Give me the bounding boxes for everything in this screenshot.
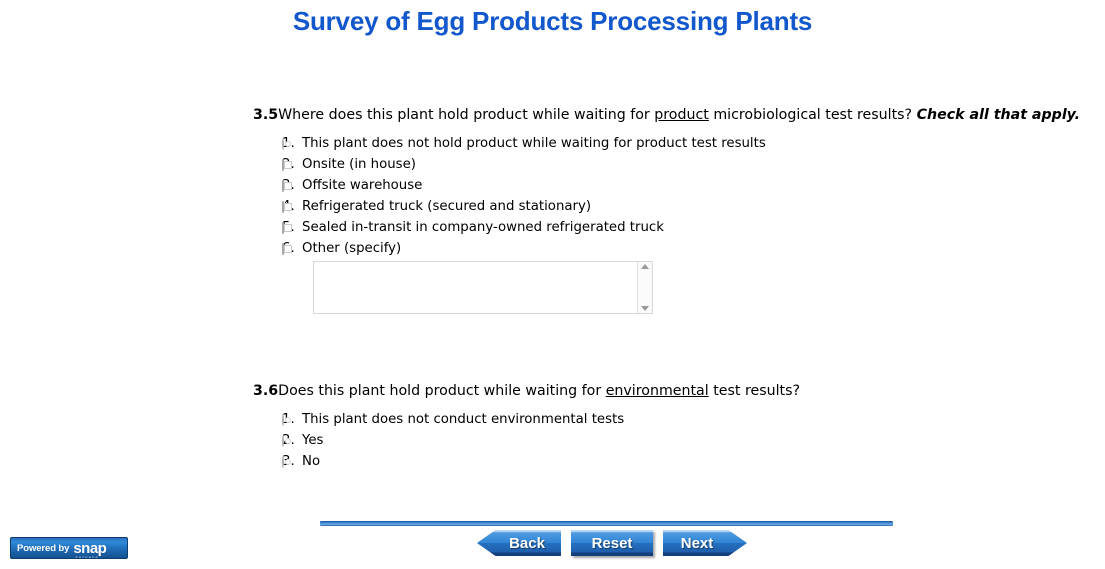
radio-button-icon[interactable] bbox=[282, 456, 284, 468]
option-label[interactable]: Onsite (in house) bbox=[302, 154, 416, 175]
option-control[interactable] bbox=[253, 238, 282, 259]
option-label[interactable]: Other (specify) bbox=[302, 238, 401, 259]
radio-button-icon[interactable] bbox=[282, 138, 284, 150]
scroll-down-arrow-icon[interactable] bbox=[641, 306, 649, 311]
question-number: 3.6 bbox=[253, 383, 278, 399]
options-list-3-5: 1. This plant does not hold product whil… bbox=[253, 133, 1080, 259]
option-row[interactable]: 2. Yes bbox=[253, 430, 800, 451]
question-text-before: Does this plant hold product while waiti… bbox=[278, 383, 606, 399]
option-label[interactable]: This plant does not hold product while w… bbox=[302, 133, 766, 154]
option-row[interactable]: 3. No bbox=[253, 451, 800, 472]
option-row[interactable]: 2. Onsite (in house) bbox=[253, 154, 1080, 175]
checkbox-icon[interactable] bbox=[282, 243, 284, 255]
question-text-3-5: 3.5Where does this plant hold product wh… bbox=[253, 106, 1080, 124]
option-label[interactable]: Yes bbox=[302, 430, 323, 451]
checkbox-icon[interactable] bbox=[282, 222, 284, 234]
powered-by-label: Powered by bbox=[17, 543, 69, 554]
radio-button-icon[interactable] bbox=[282, 435, 284, 447]
option-control[interactable] bbox=[253, 133, 282, 154]
option-label[interactable]: Sealed in-transit in company-owned refri… bbox=[302, 217, 664, 238]
other-specify-textarea-wrapper[interactable] bbox=[313, 261, 653, 314]
powered-by-snap-badge[interactable]: Powered by snap surveys bbox=[10, 537, 128, 559]
checkbox-icon[interactable] bbox=[282, 159, 284, 171]
question-block-3-6: 3.6Does this plant hold product while wa… bbox=[253, 382, 800, 472]
option-control[interactable] bbox=[253, 217, 282, 238]
question-keyword: product bbox=[654, 107, 709, 123]
question-text-after: microbiological test results? bbox=[709, 107, 917, 123]
snap-logo: snap surveys bbox=[73, 541, 106, 556]
option-control[interactable] bbox=[253, 451, 282, 472]
option-control[interactable] bbox=[253, 175, 282, 196]
question-text-after: test results? bbox=[709, 383, 800, 399]
option-row[interactable]: 1. This plant does not hold product whil… bbox=[253, 133, 1080, 154]
scroll-up-arrow-icon[interactable] bbox=[641, 264, 649, 269]
radio-button-icon[interactable] bbox=[282, 414, 284, 426]
option-control[interactable] bbox=[253, 409, 282, 430]
option-row[interactable]: 6. Other (specify) bbox=[253, 238, 1080, 259]
other-specify-input[interactable] bbox=[314, 262, 637, 313]
options-list-3-6: 1. This plant does not conduct environme… bbox=[253, 409, 800, 472]
option-label[interactable]: Offsite warehouse bbox=[302, 175, 422, 196]
snap-logo-subtext: surveys bbox=[75, 555, 99, 560]
page-title: Survey of Egg Products Processing Plants bbox=[0, 6, 1105, 37]
reset-button[interactable]: Reset bbox=[571, 530, 653, 556]
back-button[interactable]: Back bbox=[477, 530, 561, 556]
question-text-before: Where does this plant hold product while… bbox=[278, 107, 654, 123]
textarea-scrollbar[interactable] bbox=[637, 262, 652, 313]
question-number: 3.5 bbox=[253, 107, 278, 123]
option-label[interactable]: No bbox=[302, 451, 320, 472]
option-control[interactable] bbox=[253, 154, 282, 175]
option-row[interactable]: 5. Sealed in-transit in company-owned re… bbox=[253, 217, 1080, 238]
next-button[interactable]: Next bbox=[663, 530, 747, 556]
question-text-3-6: 3.6Does this plant hold product while wa… bbox=[253, 382, 800, 400]
option-label[interactable]: Refrigerated truck (secured and stationa… bbox=[302, 196, 591, 217]
checkbox-icon[interactable] bbox=[282, 201, 284, 213]
option-control[interactable] bbox=[253, 430, 282, 451]
footer-divider bbox=[320, 521, 893, 526]
option-row[interactable]: 4. Refrigerated truck (secured and stati… bbox=[253, 196, 1080, 217]
question-instruction: Check all that apply. bbox=[917, 107, 1080, 123]
option-control[interactable] bbox=[253, 196, 282, 217]
option-row[interactable]: 1. This plant does not conduct environme… bbox=[253, 409, 800, 430]
option-label[interactable]: This plant does not conduct environmenta… bbox=[302, 409, 624, 430]
option-row[interactable]: 3. Offsite warehouse bbox=[253, 175, 1080, 196]
question-block-3-5: 3.5Where does this plant hold product wh… bbox=[253, 106, 1080, 259]
checkbox-icon[interactable] bbox=[282, 180, 284, 192]
question-keyword: environmental bbox=[606, 383, 709, 399]
